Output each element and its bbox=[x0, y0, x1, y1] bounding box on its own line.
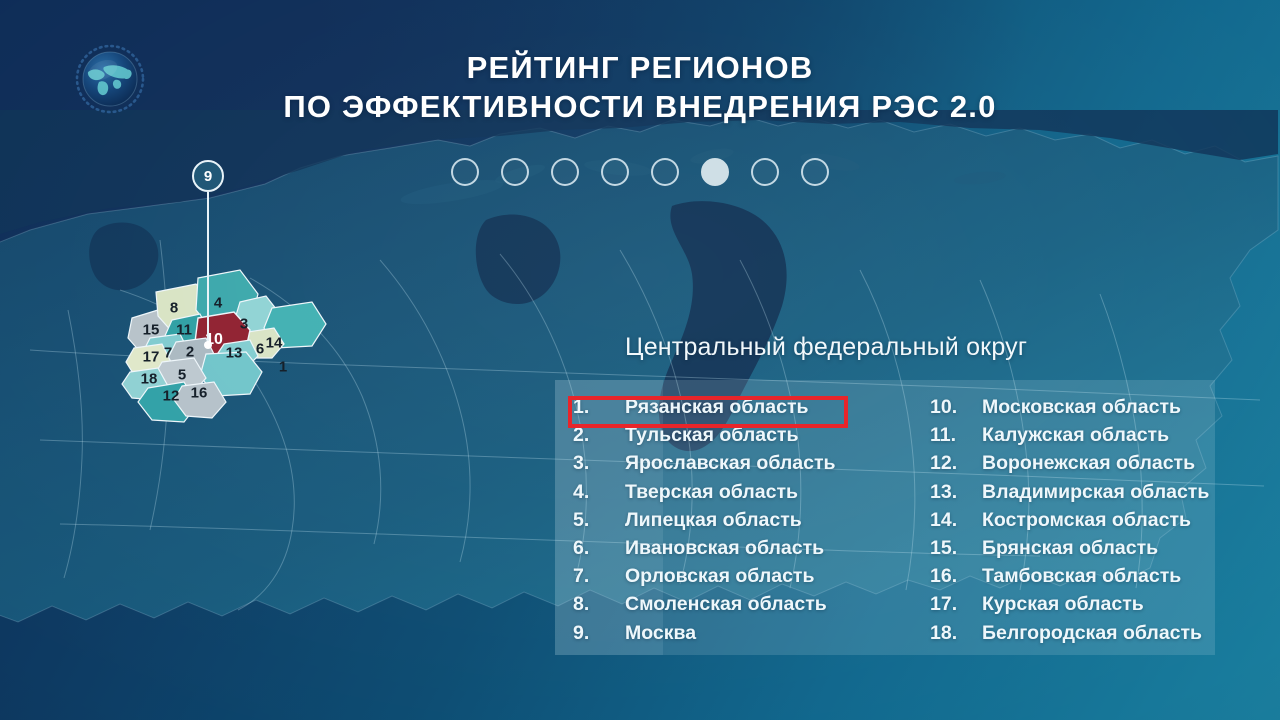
ranking-item-name: Костромская область bbox=[982, 509, 1191, 532]
ranking-item[interactable]: 1.Рязанская область bbox=[573, 396, 930, 424]
ranking-item-name: Курская область bbox=[982, 593, 1144, 616]
ranking-column-right: 10.Московская область11.Калужская област… bbox=[930, 396, 1215, 655]
ranking-item-index: 5. bbox=[573, 509, 625, 532]
slide-root: РЕЙТИНГ РЕГИОНОВ ПО ЭФФЕКТИВНОСТИ ВНЕДРЕ… bbox=[0, 0, 1280, 720]
ranking-item-index: 1. bbox=[573, 396, 625, 419]
ranking-item[interactable]: 5.Липецкая область bbox=[573, 509, 930, 537]
ranking-item-name: Тульская область bbox=[625, 424, 798, 447]
ranking-item[interactable]: 9.Москва bbox=[573, 622, 930, 650]
map-region-number-1: 1 bbox=[279, 359, 287, 376]
ranking-item[interactable]: 17.Курская область bbox=[930, 593, 1215, 621]
ranking-item-index: 18. bbox=[930, 622, 982, 645]
ranking-item-name: Московская область bbox=[982, 396, 1181, 419]
ranking-item-index: 9. bbox=[573, 622, 625, 645]
ranking-item-index: 16. bbox=[930, 565, 982, 588]
ranking-item-name: Рязанская область bbox=[625, 396, 809, 419]
map-region-number-15: 15 bbox=[143, 322, 160, 339]
ranking-item-index: 6. bbox=[573, 537, 625, 560]
ranking-item-name: Владимирская область bbox=[982, 481, 1209, 504]
map-region-number-7: 7 bbox=[164, 345, 172, 362]
map-region-number-3: 3 bbox=[240, 316, 248, 333]
ranking-item-name: Липецкая область bbox=[625, 509, 802, 532]
progress-dot-2[interactable] bbox=[501, 158, 529, 186]
map-region-number-13: 13 bbox=[226, 345, 243, 362]
ranking-item-name: Калужская область bbox=[982, 424, 1169, 447]
ranking-item[interactable]: 4.Тверская область bbox=[573, 481, 930, 509]
ranking-item-name: Орловская область bbox=[625, 565, 814, 588]
ranking-panel: 1.Рязанская область2.Тульская область3.Я… bbox=[555, 380, 1215, 655]
ranking-item[interactable]: 7.Орловская область bbox=[573, 565, 930, 593]
map-region-number-2: 2 bbox=[186, 344, 194, 361]
map-region-number-11: 11 bbox=[176, 322, 192, 339]
ranking-item-index: 14. bbox=[930, 509, 982, 532]
globe-logo bbox=[73, 42, 147, 116]
ranking-item[interactable]: 14.Костромская область bbox=[930, 509, 1215, 537]
ranking-item-name: Ивановская область bbox=[625, 537, 824, 560]
ranking-item-name: Смоленская область bbox=[625, 593, 827, 616]
ranking-item[interactable]: 13.Владимирская область bbox=[930, 481, 1215, 509]
map-region-number-18: 18 bbox=[141, 371, 158, 388]
ranking-item-index: 2. bbox=[573, 424, 625, 447]
callout-point-9 bbox=[204, 341, 212, 349]
map-region-number-8: 8 bbox=[170, 300, 178, 317]
map-marker-9[interactable]: 9 bbox=[192, 160, 224, 192]
ranking-item[interactable]: 8.Смоленская область bbox=[573, 593, 930, 621]
ranking-item-name: Ярославская область bbox=[625, 452, 836, 475]
okrug-title: Центральный федеральный округ bbox=[625, 333, 1027, 362]
progress-dot-7[interactable] bbox=[751, 158, 779, 186]
ranking-item-name: Воронежская область bbox=[982, 452, 1195, 475]
ranking-item[interactable]: 6.Ивановская область bbox=[573, 537, 930, 565]
progress-dot-5[interactable] bbox=[651, 158, 679, 186]
progress-dot-8[interactable] bbox=[801, 158, 829, 186]
ranking-item[interactable]: 12.Воронежская область bbox=[930, 452, 1215, 480]
map-region-number-14: 14 bbox=[266, 335, 283, 352]
map-region-number-12: 12 bbox=[163, 388, 180, 405]
ranking-item-index: 11. bbox=[930, 424, 982, 447]
ranking-item-index: 13. bbox=[930, 481, 982, 504]
ranking-column-left: 1.Рязанская область2.Тульская область3.Я… bbox=[555, 396, 930, 655]
ranking-item-index: 10. bbox=[930, 396, 982, 419]
ranking-item-index: 3. bbox=[573, 452, 625, 475]
map-marker-9-label: 9 bbox=[204, 168, 212, 185]
ranking-item-name: Тверская область bbox=[625, 481, 798, 504]
ranking-item-index: 15. bbox=[930, 537, 982, 560]
map-region-number-16: 16 bbox=[191, 385, 208, 402]
progress-dot-6[interactable] bbox=[701, 158, 729, 186]
ranking-item[interactable]: 16.Тамбовская область bbox=[930, 565, 1215, 593]
ranking-item[interactable]: 11.Калужская область bbox=[930, 424, 1215, 452]
ranking-item-name: Брянская область bbox=[982, 537, 1158, 560]
ranking-item[interactable]: 3.Ярославская область bbox=[573, 452, 930, 480]
ranking-item-index: 4. bbox=[573, 481, 625, 504]
ranking-item[interactable]: 10.Московская область bbox=[930, 396, 1215, 424]
ranking-item-index: 7. bbox=[573, 565, 625, 588]
ranking-item-index: 12. bbox=[930, 452, 982, 475]
map-region-number-4: 4 bbox=[214, 295, 222, 312]
ranking-item-name: Тамбовская область bbox=[982, 565, 1181, 588]
progress-dot-4[interactable] bbox=[601, 158, 629, 186]
progress-dot-3[interactable] bbox=[551, 158, 579, 186]
ranking-item[interactable]: 2.Тульская область bbox=[573, 424, 930, 452]
ranking-item-name: Белгородская область bbox=[982, 622, 1202, 645]
ranking-item-index: 8. bbox=[573, 593, 625, 616]
map-region-number-17: 17 bbox=[143, 349, 160, 366]
callout-line-9 bbox=[207, 192, 209, 346]
progress-dot-1[interactable] bbox=[451, 158, 479, 186]
map-region-number-5: 5 bbox=[178, 367, 186, 384]
ranking-item[interactable]: 18.Белгородская область bbox=[930, 622, 1215, 650]
ranking-item-name: Москва bbox=[625, 622, 696, 645]
ranking-item-index: 17. bbox=[930, 593, 982, 616]
map-region-number-6: 6 bbox=[256, 341, 264, 358]
ranking-item[interactable]: 15.Брянская область bbox=[930, 537, 1215, 565]
